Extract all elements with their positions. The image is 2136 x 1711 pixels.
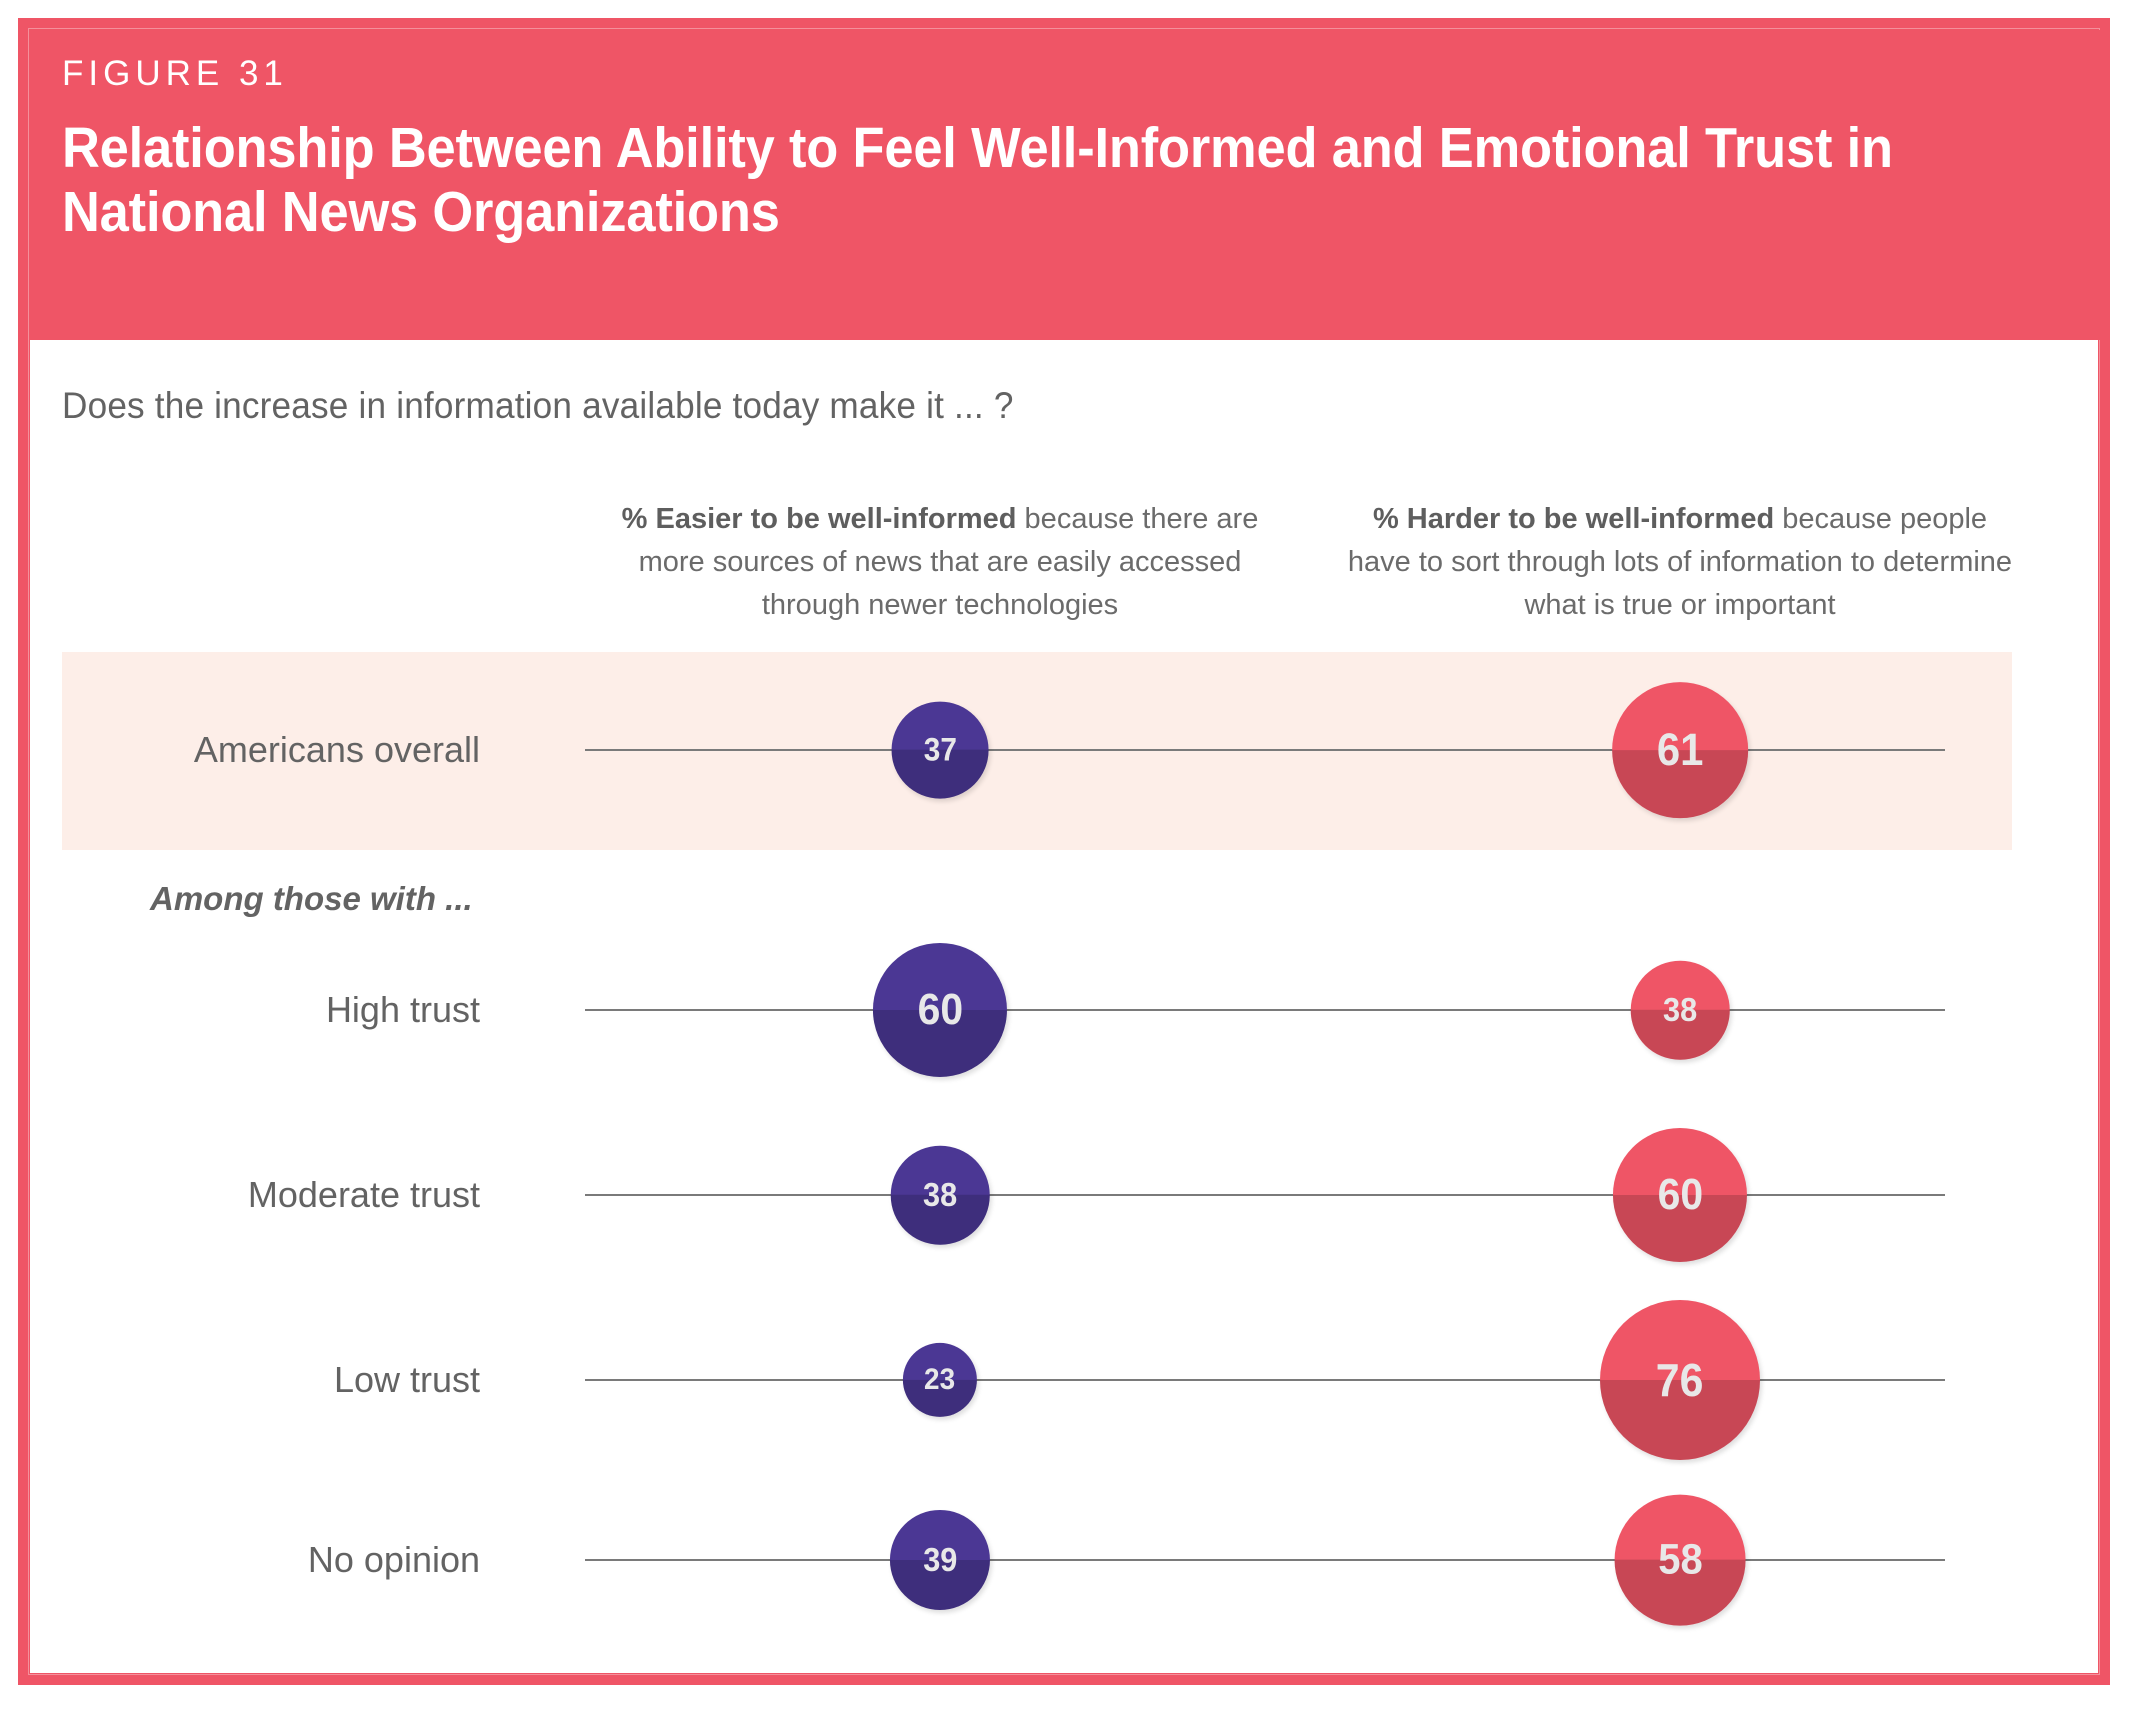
column-header-harder: % Harder to be well-informed because peo… (1340, 498, 2020, 627)
figure-header-band: FIGURE 31 Relationship Between Ability t… (30, 30, 2106, 340)
bubble-harder[interactable]: 60 (1613, 1128, 1747, 1262)
column-header-easier: % Easier to be well-informed because the… (600, 498, 1280, 627)
row-label: No opinion (0, 1535, 480, 1585)
group-label: Among those with ... (150, 880, 473, 918)
row-label: Americans overall (0, 725, 480, 775)
row-connector-line (585, 1009, 1945, 1011)
figure-root: FIGURE 31 Relationship Between Ability t… (0, 0, 2136, 1711)
bubble-value: 37 (923, 732, 956, 769)
bubble-easier[interactable]: 23 (903, 1343, 977, 1417)
bubble-easier[interactable]: 38 (891, 1146, 990, 1245)
row-label: Moderate trust (0, 1170, 480, 1220)
bubble-value: 61 (1657, 724, 1704, 776)
bubble-harder[interactable]: 38 (1631, 961, 1730, 1060)
bubble-value: 23 (924, 1363, 955, 1397)
question-text: Does the increase in information availab… (62, 385, 1014, 427)
bubble-easier[interactable]: 39 (890, 1510, 990, 1610)
bubble-harder[interactable]: 58 (1615, 1495, 1746, 1626)
page-title: Relationship Between Ability to Feel Wel… (62, 116, 1902, 245)
bubble-value: 60 (917, 985, 963, 1035)
bubble-value: 38 (1663, 991, 1697, 1029)
bubble-harder[interactable]: 61 (1612, 682, 1748, 818)
bubble-value: 76 (1656, 1353, 1704, 1407)
column-header-easier-emphasis: % Easier to be well-informed (622, 503, 1017, 535)
bubble-value: 58 (1658, 1535, 1702, 1584)
bubble-value: 39 (923, 1541, 957, 1579)
bubble-harder[interactable]: 76 (1600, 1300, 1760, 1460)
bubble-easier[interactable]: 60 (873, 943, 1007, 1077)
bubble-value: 38 (923, 1176, 957, 1214)
figure-number: FIGURE 31 (62, 54, 288, 94)
bubble-easier[interactable]: 37 (892, 702, 989, 799)
row-label: Low trust (0, 1355, 480, 1405)
column-header-harder-emphasis: % Harder to be well-informed (1373, 503, 1774, 535)
bubble-value: 60 (1657, 1170, 1703, 1220)
row-label: High trust (0, 985, 480, 1035)
